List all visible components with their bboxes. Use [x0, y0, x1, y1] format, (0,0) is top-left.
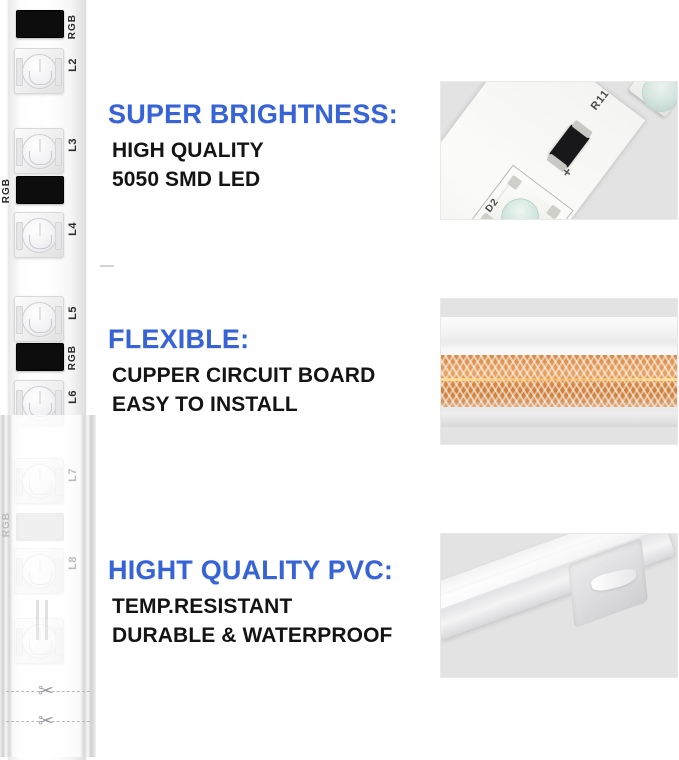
- led-label-l3: L3: [68, 138, 79, 152]
- led-chip: [14, 296, 64, 342]
- divider-tick: [100, 265, 114, 267]
- led-strip-illustration: RGB L2 L3 RGB L4 L5: [0, 0, 96, 757]
- led-lens: [22, 554, 57, 589]
- led-pad-right: [55, 558, 62, 586]
- smd-led-macro-photo: R11 D2 +: [440, 81, 678, 220]
- rgb-resistor: [16, 513, 64, 541]
- rgb-resistor: [16, 176, 64, 204]
- cut-mark: ✂: [6, 681, 90, 703]
- pvc-sleeve-photo: [440, 533, 678, 678]
- led-label-l8: L8: [68, 556, 79, 570]
- led-pad-right: [55, 58, 62, 86]
- led-chip: [14, 48, 64, 94]
- rgb-resistor: [16, 343, 64, 371]
- led-pad-right: [55, 306, 62, 334]
- feature-heading: HIGHT QUALITY PVC:: [108, 556, 393, 584]
- copper-circuit-board-photo: [440, 298, 678, 445]
- led-pad-right: [55, 390, 62, 418]
- led-chip: [14, 212, 64, 258]
- led-label-l7: L7: [68, 468, 79, 482]
- scissors-icon: ✂: [38, 711, 54, 733]
- led-pad-right: [55, 222, 62, 250]
- led-lens: [22, 134, 57, 169]
- rgb-resistor-label: RGB: [2, 178, 12, 203]
- feature-line-2: DURABLE & WATERPROOF: [112, 623, 393, 650]
- photo-content: R11 D2 +: [441, 82, 677, 219]
- feature-high-quality-pvc: HIGHT QUALITY PVC: TEMP.RESISTANT DURABL…: [108, 556, 393, 650]
- led-lens: [22, 54, 57, 89]
- led-chip: [14, 458, 64, 504]
- feature-line-1: HIGH QUALITY: [112, 138, 398, 165]
- product-feature-graphic: RGB L2 L3 RGB L4 L5: [0, 0, 679, 757]
- rgb-resistor-label: RGB: [68, 345, 78, 370]
- rgb-resistor-label: RGB: [68, 14, 78, 39]
- led-label-l6: L6: [68, 390, 79, 404]
- led-lens: [22, 624, 57, 659]
- scissors-icon: ✂: [38, 681, 54, 703]
- feature-line-1: CUPPER CIRCUIT BOARD: [112, 363, 375, 390]
- smd-led-5050: [628, 81, 678, 117]
- feature-line-2: EASY TO INSTALL: [112, 392, 375, 419]
- led-label-l5: L5: [68, 306, 79, 320]
- feature-flexible: FLEXIBLE: CUPPER CIRCUIT BOARD EASY TO I…: [108, 325, 375, 419]
- rgb-resistor-label: RGB: [2, 512, 12, 537]
- tube-gloss-highlight: [441, 317, 677, 427]
- led-chip: [14, 128, 64, 174]
- feature-heading: SUPER BRIGHTNESS:: [108, 100, 398, 128]
- led-chip: [14, 548, 64, 594]
- pvc-tube-body: [441, 317, 677, 427]
- feature-heading: FLEXIBLE:: [108, 325, 375, 353]
- cut-mark: ✂: [6, 711, 90, 733]
- led-label-l4: L4: [68, 222, 79, 236]
- feature-super-brightness: SUPER BRIGHTNESS: HIGH QUALITY 5050 SMD …: [108, 100, 398, 194]
- led-lens: [22, 302, 57, 337]
- led-pad-right: [55, 628, 62, 656]
- led-phosphor-dome: [634, 81, 678, 120]
- led-label-l2: L2: [68, 58, 79, 72]
- feature-line-1: TEMP.RESISTANT: [112, 594, 393, 621]
- led-lens: [22, 464, 57, 499]
- feature-line-2: 5050 SMD LED: [112, 167, 398, 194]
- led-pad-right: [55, 138, 62, 166]
- rgb-resistor: [16, 10, 64, 38]
- led-pad-right: [55, 468, 62, 496]
- led-chip: [14, 618, 64, 664]
- led-lens: [22, 218, 57, 253]
